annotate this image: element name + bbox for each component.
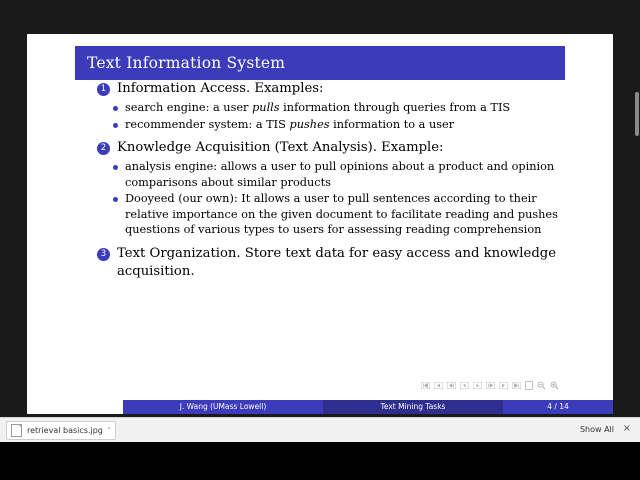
footer-page-number: 4 / 14 bbox=[503, 400, 613, 414]
download-bar: retrieval basics.jpg ˄ Show All × bbox=[0, 417, 640, 443]
list-item-label: search engine: a user pulls information … bbox=[125, 100, 510, 116]
prev-frame-icon[interactable] bbox=[434, 382, 443, 389]
list-item: Dooyeed (our own): It allows a user to p… bbox=[113, 191, 565, 238]
list-item: 2 Knowledge Acquisition (Text Analysis).… bbox=[75, 139, 565, 157]
slide-canvas: Text Information System 1 Information Ac… bbox=[27, 34, 613, 414]
close-icon[interactable]: × bbox=[623, 424, 631, 434]
list-item: recommender system: a TIS pushes informa… bbox=[113, 117, 565, 133]
dot-bullet-icon bbox=[113, 106, 118, 111]
text-emphasis: pulls bbox=[252, 101, 280, 114]
list-item: search engine: a user pulls information … bbox=[113, 100, 565, 116]
footer-section: Text Mining Tasks bbox=[323, 400, 503, 414]
list-item: 3 Text Organization. Store text data for… bbox=[75, 245, 565, 281]
last-slide-icon[interactable] bbox=[512, 382, 521, 389]
chevron-up-icon[interactable]: ˄ bbox=[108, 427, 112, 435]
slide-content: Text Information System 1 Information Ac… bbox=[75, 46, 565, 414]
text-pre: search engine: a user bbox=[125, 101, 252, 114]
text-emphasis: pushes bbox=[289, 118, 329, 131]
slide-navigation-bar[interactable] bbox=[421, 381, 559, 390]
text-post: information through queries from a TIS bbox=[280, 101, 511, 114]
prev-slide-icon[interactable] bbox=[447, 382, 456, 389]
dot-bullet-icon bbox=[113, 197, 118, 202]
text-post: information to a user bbox=[330, 118, 455, 131]
show-all-downloads-button[interactable]: Show All bbox=[580, 425, 614, 434]
slide-footer: J. Wang (UMass Lowell) Text Mining Tasks… bbox=[123, 400, 613, 414]
text-pre: recommender system: a TIS bbox=[125, 118, 289, 131]
first-slide-icon[interactable] bbox=[421, 382, 430, 389]
download-file-name: retrieval basics.jpg bbox=[27, 426, 105, 435]
numbered-bullet-icon: 2 bbox=[97, 142, 110, 155]
download-item[interactable]: retrieval basics.jpg ˄ bbox=[6, 421, 116, 440]
sub-list: analysis engine: allows a user to pull o… bbox=[75, 159, 565, 238]
list-item-label: analysis engine: allows a user to pull o… bbox=[125, 159, 565, 190]
find-icon[interactable] bbox=[525, 381, 533, 390]
list-item-label: Information Access. Examples: bbox=[117, 80, 323, 98]
slide-viewer: Text Information System 1 Information Ac… bbox=[0, 0, 640, 417]
bottom-letterbox bbox=[0, 442, 640, 480]
next-frame-icon[interactable] bbox=[499, 382, 508, 389]
sub-list: search engine: a user pulls information … bbox=[75, 100, 565, 132]
numbered-bullet-icon: 3 bbox=[97, 248, 110, 261]
slide-title: Text Information System bbox=[75, 46, 565, 80]
zoom-out-icon[interactable] bbox=[537, 381, 546, 390]
slide-body: 1 Information Access. Examples: search e… bbox=[75, 80, 565, 380]
back-icon[interactable] bbox=[460, 382, 469, 389]
list-item-label: Knowledge Acquisition (Text Analysis). E… bbox=[117, 139, 443, 157]
list-item-label: Dooyeed (our own): It allows a user to p… bbox=[125, 191, 565, 238]
zoom-in-icon[interactable] bbox=[550, 381, 559, 390]
numbered-bullet-icon: 1 bbox=[97, 83, 110, 96]
list-item-label: Text Organization. Store text data for e… bbox=[117, 245, 565, 281]
next-slide-icon[interactable] bbox=[486, 382, 495, 389]
vertical-scrollbar[interactable] bbox=[635, 92, 639, 136]
file-icon bbox=[11, 424, 22, 437]
list-item: 1 Information Access. Examples: bbox=[75, 80, 565, 98]
footer-author: J. Wang (UMass Lowell) bbox=[123, 400, 323, 414]
dot-bullet-icon bbox=[113, 123, 118, 128]
forward-icon[interactable] bbox=[473, 382, 482, 389]
dot-bullet-icon bbox=[113, 165, 118, 170]
screen: Text Information System 1 Information Ac… bbox=[0, 0, 640, 480]
list-item: analysis engine: allows a user to pull o… bbox=[113, 159, 565, 190]
list-item-label: recommender system: a TIS pushes informa… bbox=[125, 117, 454, 133]
